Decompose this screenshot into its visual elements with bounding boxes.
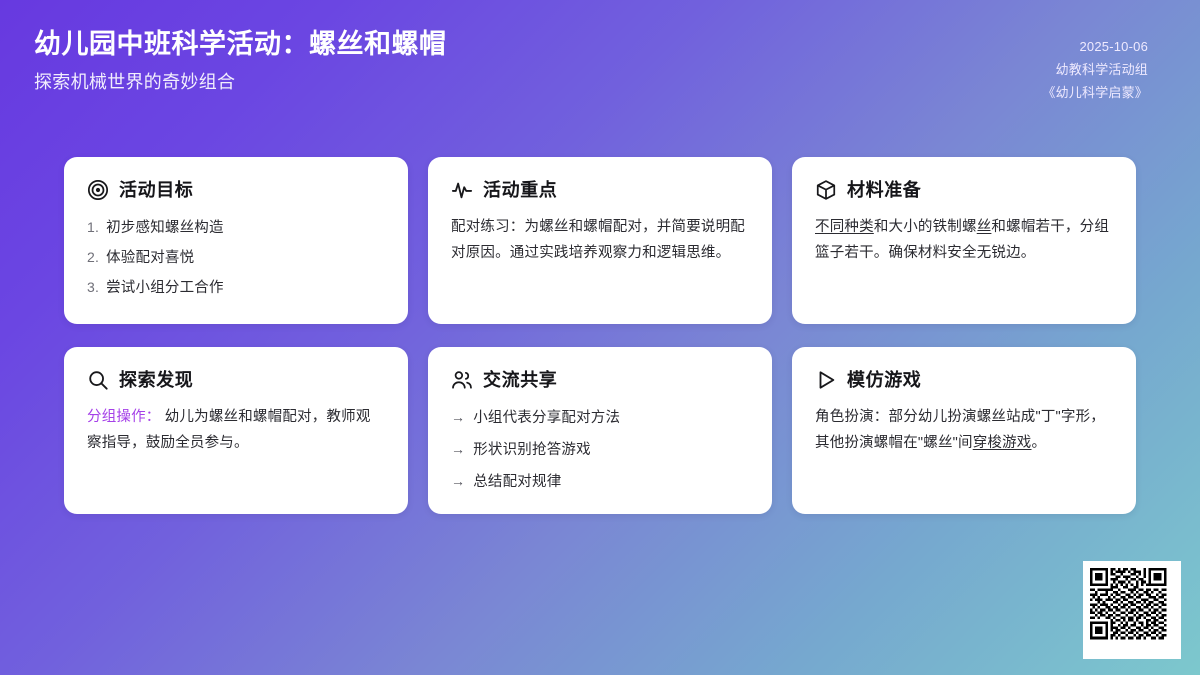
card-share-exchange: 交流共享→小组代表分享配对方法→形状识别抢答游戏→总结配对规律 [428,347,772,514]
card-header: 探索发现 [87,369,385,391]
card-list: →小组代表分享配对方法→形状识别抢答游戏→总结配对规律 [451,405,749,495]
card-title: 材料准备 [847,181,921,199]
target-icon [87,179,109,201]
list-item: →形状识别抢答游戏 [451,437,749,463]
list-item: 体验配对喜悦 [87,245,385,271]
list-item: 尝试小组分工合作 [87,275,385,301]
header-meta: 2025-10-06 幼教科学活动组 《幼儿科学启蒙》 [1042,28,1148,104]
meta-org: 幼教科学活动组 [1056,59,1148,82]
list-item-label: 形状识别抢答游戏 [473,438,591,463]
users-icon [451,369,473,391]
text-run: 和大小的铁制螺 [874,219,977,235]
search-icon [87,369,109,391]
card-header: 交流共享 [451,369,749,391]
card-title: 活动目标 [119,181,193,199]
card-paragraph: 角色扮演：部分幼儿扮演螺丝站成"丁"字形，其他扮演螺帽在"螺丝"间穿梭游戏。 [815,405,1113,457]
text-run: 角色扮演：部分幼儿扮演螺丝站成"丁"字形，其他扮演螺帽在"螺丝"间 [815,409,1105,451]
card-explore-discover: 探索发现分组操作： 幼儿为螺丝和螺帽配对，教师观察指导，鼓励全员参与。 [64,347,408,514]
qr-code-container [1083,561,1181,659]
accent-term: 分组操作： [87,409,161,425]
card-activity-goal: 活动目标初步感知螺丝构造体验配对喜悦尝试小组分工合作 [64,157,408,324]
highlighted-term: 丝 [977,219,992,235]
card-list: 初步感知螺丝构造体验配对喜悦尝试小组分工合作 [87,215,385,301]
pulse-icon [451,179,473,201]
page-title: 幼儿园中班科学活动：螺丝和螺帽 [34,28,447,62]
card-paragraph: 配对练习：为螺丝和螺帽配对，并简要说明配对原因。通过实践培养观察力和逻辑思维。 [451,215,749,267]
card-title: 活动重点 [483,181,557,199]
list-item-label: 小组代表分享配对方法 [473,406,620,431]
card-title: 探索发现 [119,371,193,389]
play-icon [815,369,837,391]
highlighted-term: 不同种类 [815,219,874,235]
meta-date: 2025-10-06 [1080,36,1149,59]
card-header: 材料准备 [815,179,1113,201]
meta-source: 《幼儿科学启蒙》 [1042,82,1148,105]
card-material-prep: 材料准备不同种类和大小的铁制螺丝和螺帽若干，分组篮子若干。确保材料安全无锐边。 [792,157,1136,324]
card-header: 活动重点 [451,179,749,201]
arrow-icon: → [451,469,465,493]
card-activity-focus: 活动重点配对练习：为螺丝和螺帽配对，并简要说明配对原因。通过实践培养观察力和逻辑… [428,157,772,324]
card-paragraph: 分组操作： 幼儿为螺丝和螺帽配对，教师观察指导，鼓励全员参与。 [87,405,385,457]
list-item: →总结配对规律 [451,469,749,495]
card-title: 交流共享 [483,371,557,389]
card-imitation-game: 模仿游戏角色扮演：部分幼儿扮演螺丝站成"丁"字形，其他扮演螺帽在"螺丝"间穿梭游… [792,347,1136,514]
arrow-icon: → [451,405,465,429]
card-grid: 活动目标初步感知螺丝构造体验配对喜悦尝试小组分工合作活动重点配对练习：为螺丝和螺… [64,157,1136,514]
qr-code [1090,568,1174,652]
highlighted-term: 穿梭游戏 [973,435,1032,451]
card-title: 模仿游戏 [847,371,921,389]
list-item-label: 总结配对规律 [473,470,561,495]
page-subtitle: 探索机械世界的奇妙组合 [34,71,447,94]
text-run: 。 [1032,435,1047,451]
list-item: →小组代表分享配对方法 [451,405,749,431]
list-item: 初步感知螺丝构造 [87,215,385,241]
arrow-icon: → [451,437,465,461]
card-header: 模仿游戏 [815,369,1113,391]
slide-root: 幼儿园中班科学活动：螺丝和螺帽 探索机械世界的奇妙组合 2025-10-06 幼… [0,0,1200,675]
card-header: 活动目标 [87,179,385,201]
box-icon [815,179,837,201]
header-left: 幼儿园中班科学活动：螺丝和螺帽 探索机械世界的奇妙组合 [34,28,447,94]
card-paragraph: 不同种类和大小的铁制螺丝和螺帽若干，分组篮子若干。确保材料安全无锐边。 [815,215,1113,267]
slide-header: 幼儿园中班科学活动：螺丝和螺帽 探索机械世界的奇妙组合 2025-10-06 幼… [0,0,1200,140]
